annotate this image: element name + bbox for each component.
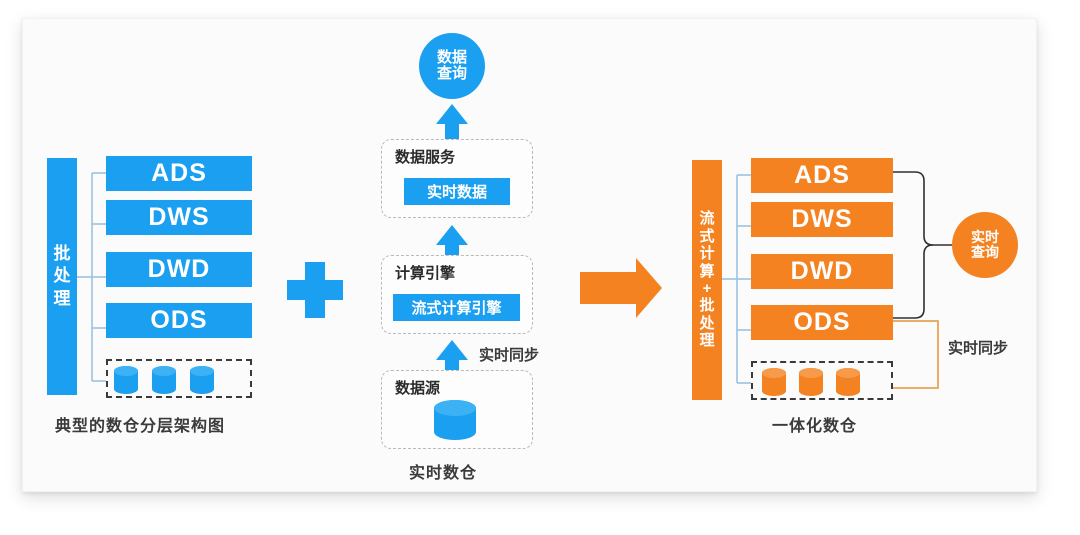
right-sync-label: 实时同步 bbox=[948, 337, 1008, 358]
right-caption: 一体化数仓 bbox=[772, 412, 857, 436]
right-query-circle-line2: 查询 bbox=[971, 245, 999, 260]
right-cylinders bbox=[0, 0, 1080, 535]
right-query-circle-line1: 实时 bbox=[971, 230, 999, 245]
diagram-canvas: 批 处 理 ADS DWS DWD ODS 典型的数仓分层架构图 bbox=[0, 0, 1080, 535]
right-query-circle[interactable]: 实时 查询 bbox=[952, 212, 1018, 278]
